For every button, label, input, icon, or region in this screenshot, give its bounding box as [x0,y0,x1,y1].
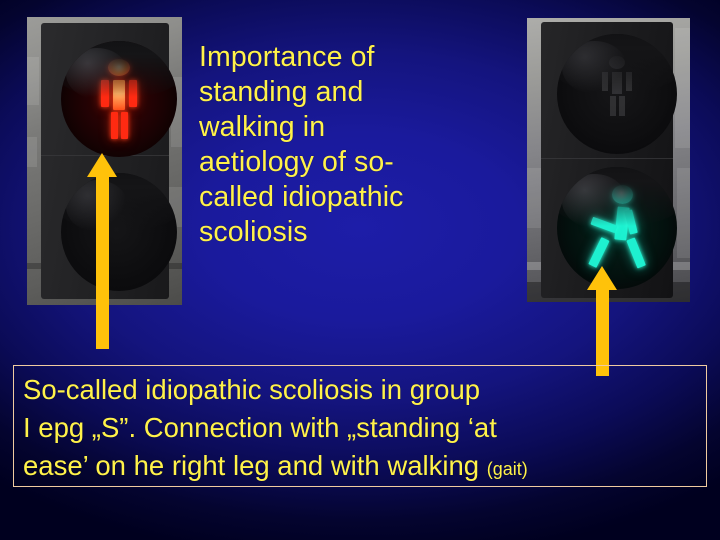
unlit-lower-lens-left [61,173,177,291]
red-standing-man-icon [95,59,143,139]
arrow-shaft [96,175,109,349]
slide-canvas: Importance of standing and walking in ae… [0,0,720,540]
arrow-shaft [596,288,609,376]
traffic-light-green-photo [527,18,690,302]
caption-text: So-called idiopathic scoliosis in group … [23,371,703,488]
signal-housing-right [541,22,673,298]
arrowhead-icon [587,266,617,290]
red-lens [61,41,177,157]
caption-main-text: So-called idiopathic scoliosis in group … [23,374,497,481]
green-walking-man-icon [585,185,651,269]
unlit-upper-lens-right [557,34,677,154]
caption-box: So-called idiopathic scoliosis in group … [13,365,707,487]
arrow-to-green-light [586,266,618,376]
arrowhead-icon [87,153,117,177]
arrow-to-red-light [86,153,118,349]
slide-title: Importance of standing and walking in ae… [199,40,499,250]
unlit-standing-man-icon [597,56,637,116]
caption-gait-note: (gait) [487,459,528,479]
